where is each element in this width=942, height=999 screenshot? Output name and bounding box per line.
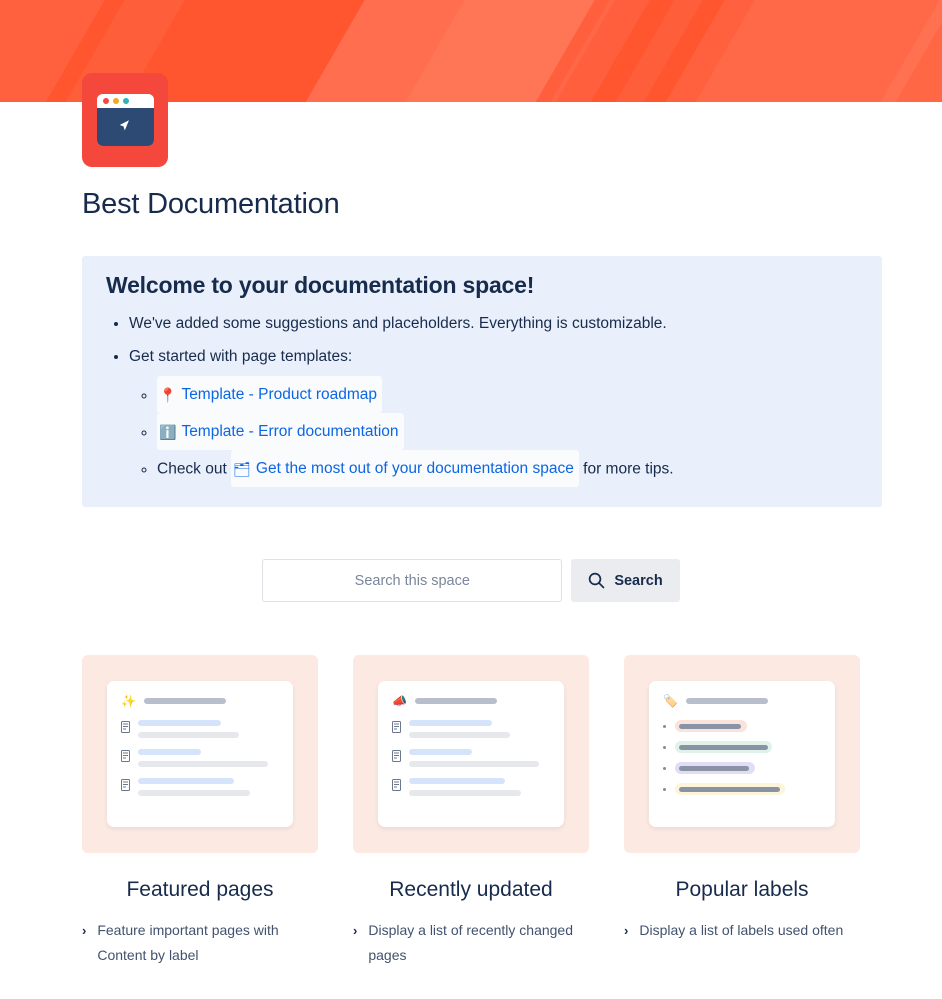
list-item: Get started with page templates: 📍 Templ… bbox=[129, 340, 860, 487]
page-icon bbox=[392, 721, 401, 733]
illustration-lines bbox=[409, 778, 550, 796]
placeholder-bar bbox=[409, 778, 505, 784]
list-item: We've added some suggestions and placeho… bbox=[129, 307, 860, 340]
card-description-row: › Display a list of recently changed pag… bbox=[353, 918, 589, 968]
card-title: Popular labels bbox=[624, 878, 860, 902]
bullet-dot bbox=[663, 725, 666, 728]
placeholder-bar bbox=[409, 749, 472, 755]
label-pill bbox=[675, 783, 785, 795]
illustration-page-list: 📣 bbox=[378, 681, 564, 827]
card-description-row: › Feature important pages with Content b… bbox=[82, 918, 318, 968]
search-input[interactable] bbox=[262, 559, 562, 602]
illustration-row bbox=[392, 720, 550, 738]
search-button[interactable]: Search bbox=[571, 559, 679, 602]
placeholder-bar bbox=[415, 698, 497, 704]
placeholder-bar bbox=[409, 790, 521, 796]
check-out-prefix: Check out bbox=[157, 461, 227, 478]
search-button-label: Search bbox=[614, 573, 662, 589]
illustration-header: ✨ bbox=[121, 695, 279, 707]
chevron-right-icon: › bbox=[82, 918, 86, 943]
page-title: Best Documentation bbox=[82, 188, 942, 221]
get-the-most-out-link[interactable]: 🗂 Get the most out of your documentation… bbox=[231, 450, 579, 487]
placeholder-bar bbox=[138, 790, 250, 796]
tag-icon: 🏷️ bbox=[663, 695, 678, 707]
label-row bbox=[663, 783, 821, 795]
page-icon bbox=[121, 721, 130, 733]
page-icon bbox=[392, 779, 401, 791]
card-featured-pages[interactable]: ✨ bbox=[82, 655, 318, 968]
feature-cards: ✨ bbox=[82, 655, 860, 968]
placeholder-bar bbox=[409, 720, 492, 726]
list-item: Check out 🗂 Get the most out of your doc… bbox=[157, 450, 860, 487]
label-row bbox=[663, 720, 821, 732]
placeholder-bar bbox=[138, 720, 221, 726]
search-icon bbox=[588, 572, 605, 589]
list-item: 📍 Template - Product roadmap bbox=[157, 376, 860, 413]
label-row bbox=[663, 741, 821, 753]
chevron-right-icon: › bbox=[624, 918, 628, 943]
link-label: Template - Product roadmap bbox=[181, 378, 377, 411]
illustration-lines bbox=[138, 778, 279, 796]
illustration-header: 🏷️ bbox=[663, 695, 821, 707]
placeholder-bar bbox=[138, 761, 268, 767]
illustration-lines bbox=[409, 720, 550, 738]
card-illustration: ✨ bbox=[82, 655, 318, 853]
search-row: Search bbox=[0, 559, 942, 602]
illustration-row bbox=[121, 749, 279, 767]
placeholder-bar bbox=[138, 778, 234, 784]
illustration-row bbox=[392, 749, 550, 767]
illustration-row bbox=[121, 778, 279, 796]
link-label: Get the most out of your documentation s… bbox=[256, 452, 574, 485]
list-item: ℹ️ Template - Error documentation bbox=[157, 413, 860, 450]
card-description: Feature important pages with Content by … bbox=[97, 918, 318, 968]
label-row bbox=[663, 762, 821, 774]
placeholder-bar bbox=[686, 698, 768, 704]
megaphone-icon: 📣 bbox=[392, 695, 407, 707]
page-icon: 🗂 bbox=[233, 462, 251, 476]
template-error-documentation-link[interactable]: ℹ️ Template - Error documentation bbox=[157, 413, 404, 450]
pushpin-icon: 📍 bbox=[159, 388, 176, 402]
sparkle-icon: ✨ bbox=[121, 695, 136, 707]
card-description-row: › Display a list of labels used often bbox=[624, 918, 860, 943]
placeholder-bar bbox=[138, 749, 201, 755]
illustration-lines bbox=[138, 749, 279, 767]
placeholder-bar bbox=[409, 732, 510, 738]
card-description: Display a list of labels used often bbox=[639, 918, 843, 943]
template-product-roadmap-link[interactable]: 📍 Template - Product roadmap bbox=[157, 376, 382, 413]
page-icon bbox=[121, 779, 130, 791]
card-illustration: 📣 bbox=[353, 655, 589, 853]
illustration-label-list: 🏷️ bbox=[649, 681, 835, 827]
page-icon bbox=[121, 750, 130, 762]
panel-heading: Welcome to your documentation space! bbox=[106, 272, 860, 299]
info-icon: ℹ️ bbox=[159, 425, 176, 439]
illustration-row bbox=[392, 778, 550, 796]
welcome-panel: Welcome to your documentation space! We'… bbox=[82, 256, 882, 507]
card-description: Display a list of recently changed pages bbox=[368, 918, 589, 968]
chevron-right-icon: › bbox=[353, 918, 357, 943]
label-pill bbox=[675, 720, 747, 732]
illustration-header: 📣 bbox=[392, 695, 550, 707]
bullet-dot bbox=[663, 788, 666, 791]
placeholder-bar bbox=[409, 761, 539, 767]
card-popular-labels[interactable]: 🏷️ bbox=[624, 655, 860, 968]
card-illustration: 🏷️ bbox=[624, 655, 860, 853]
placeholder-bar bbox=[138, 732, 239, 738]
card-recently-updated[interactable]: 📣 bbox=[353, 655, 589, 968]
illustration-row bbox=[121, 720, 279, 738]
bullet-dot bbox=[663, 746, 666, 749]
panel-bullet-list: We've added some suggestions and placeho… bbox=[95, 307, 860, 487]
check-out-suffix: for more tips. bbox=[583, 461, 673, 478]
illustration-lines bbox=[409, 749, 550, 767]
space-overview-page: Best Documentation Welcome to your docum… bbox=[0, 0, 942, 999]
illustration-page-list: ✨ bbox=[107, 681, 293, 827]
bullet-dot bbox=[663, 767, 666, 770]
link-label: Template - Error documentation bbox=[181, 415, 398, 448]
placeholder-bar bbox=[144, 698, 226, 704]
card-title: Recently updated bbox=[353, 878, 589, 902]
label-pill bbox=[675, 762, 755, 774]
label-pill bbox=[675, 741, 772, 753]
page-icon bbox=[392, 750, 401, 762]
card-title: Featured pages bbox=[82, 878, 318, 902]
panel-sub-list: 📍 Template - Product roadmap ℹ️ Template… bbox=[129, 376, 860, 487]
list-item-label: Get started with page templates: bbox=[129, 348, 352, 365]
illustration-lines bbox=[138, 720, 279, 738]
